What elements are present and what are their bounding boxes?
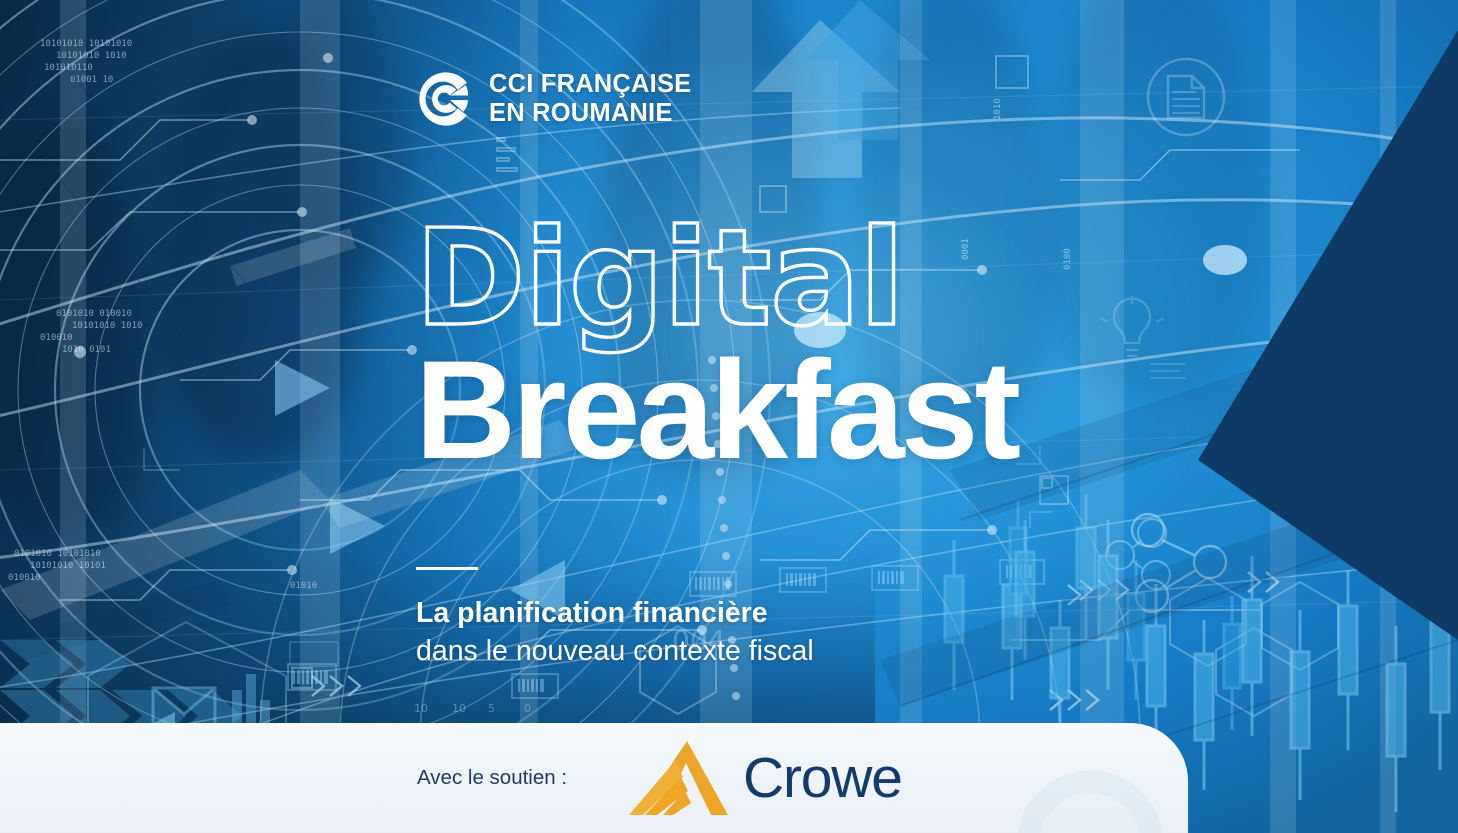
crowe-chevron-arrow-icon (625, 737, 731, 819)
svg-text:0100: 0100 (1063, 248, 1073, 270)
title-line-digital: Digital (415, 218, 1017, 340)
svg-text:01010: 01010 (290, 581, 317, 591)
support-label: Avec le soutien : (417, 766, 567, 790)
svg-text:0101010 010010: 0101010 010010 (56, 309, 132, 319)
cci-circular-c-logo-icon (417, 70, 475, 128)
organization-line-1: CCI FRANÇAISE (489, 70, 691, 99)
sponsor-footer-inner: Avec le soutien : Crowe (0, 723, 1188, 833)
slide-title: Digital Breakfast (415, 218, 1017, 476)
subtitle-line-2: dans le nouveau contexte fiscal (416, 633, 814, 671)
crowe-logo: Crowe (625, 737, 902, 819)
title-divider-rule (416, 567, 478, 570)
cci-logo-text: CCI FRANÇAISE EN ROUMANIE (489, 70, 691, 127)
sponsor-footer-card: Avec le soutien : Crowe (0, 723, 1188, 833)
decorative-navy-triangle (1198, 0, 1458, 700)
svg-text:10: 10 (452, 702, 466, 715)
organization-line-2: EN ROUMANIE (489, 99, 691, 128)
svg-text:010010: 010010 (40, 333, 73, 343)
svg-text:10101010 10101010: 10101010 10101010 (40, 39, 132, 49)
svg-text:10: 10 (414, 702, 428, 715)
svg-text:1010 0101: 1010 0101 (62, 345, 111, 355)
presentation-slide: 10101010 10101010 10101010 1010 10101011… (0, 0, 1458, 833)
cci-logo-block: CCI FRANÇAISE EN ROUMANIE (417, 70, 691, 128)
svg-text:5: 5 (488, 702, 495, 715)
crowe-wordmark: Crowe (743, 750, 902, 807)
svg-text:10101010 1010: 10101010 1010 (56, 51, 126, 61)
svg-text:1010: 1010 (993, 98, 1003, 120)
slide-subtitle: La planification financière dans le nouv… (416, 595, 814, 671)
svg-text:0: 0 (524, 702, 531, 715)
title-line-breakfast: Breakfast (415, 344, 1017, 476)
subtitle-line-1: La planification financière (416, 595, 814, 633)
svg-text:10101010 1010: 10101010 1010 (72, 321, 142, 331)
